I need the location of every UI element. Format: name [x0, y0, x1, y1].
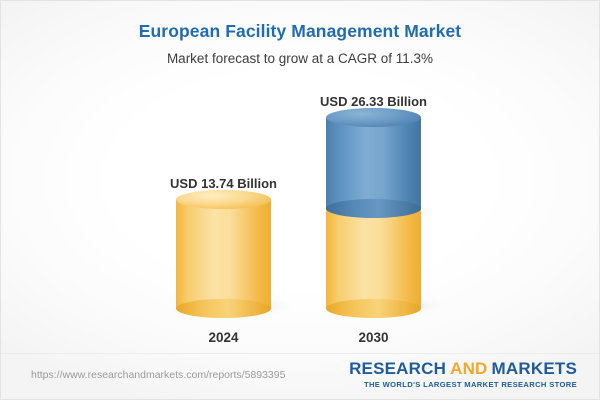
market-infographic: European Facility Management Market Mark…	[0, 0, 600, 400]
logo-word-and: AND	[450, 359, 487, 378]
logo-tagline: THE WORLD'S LARGEST MARKET RESEARCH STOR…	[349, 380, 577, 389]
logo-wordmark: RESEARCHANDMARKETS	[349, 360, 577, 378]
cylinder-top-cap	[326, 108, 421, 127]
segment-bottom-cap	[326, 199, 421, 218]
cylinder-bottom-cap	[176, 299, 271, 318]
bar-segment-base-2024	[176, 199, 271, 309]
logo-word-research: RESEARCH	[349, 359, 446, 378]
logo-word-markets: MARKETS	[492, 359, 577, 378]
axis-tick-label-2024: 2024	[208, 330, 238, 345]
bar-group-2024: USD 13.74 Billion 2024	[176, 199, 271, 309]
bar-value-label-2030: USD 26.33 Billion	[320, 94, 427, 109]
bar-value-label-2024: USD 13.74 Billion	[170, 176, 277, 191]
bar-body	[326, 117, 421, 309]
bar-segment-growth-2030	[326, 117, 421, 209]
bar-cylinder-2024[interactable]: 2024	[176, 199, 271, 309]
footer: https://www.researchandmarkets.com/repor…	[1, 353, 599, 399]
chart-plot-area: USD 13.74 Billion 2024 USD 26.33 Billion	[1, 1, 600, 353]
bar-group-2030: USD 26.33 Billion 2030	[326, 117, 421, 309]
brand-logo[interactable]: RESEARCHANDMARKETS THE WORLD'S LARGEST M…	[349, 360, 577, 389]
report-url-link[interactable]: https://www.researchandmarkets.com/repor…	[31, 369, 285, 381]
axis-tick-label-2030: 2030	[358, 330, 388, 345]
cylinder-top-cap	[176, 190, 271, 209]
bar-segment-base-2030	[326, 209, 421, 309]
cylinder-bottom-cap	[326, 299, 421, 318]
bar-body	[176, 199, 271, 309]
bar-cylinder-2030[interactable]: 2030	[326, 117, 421, 309]
